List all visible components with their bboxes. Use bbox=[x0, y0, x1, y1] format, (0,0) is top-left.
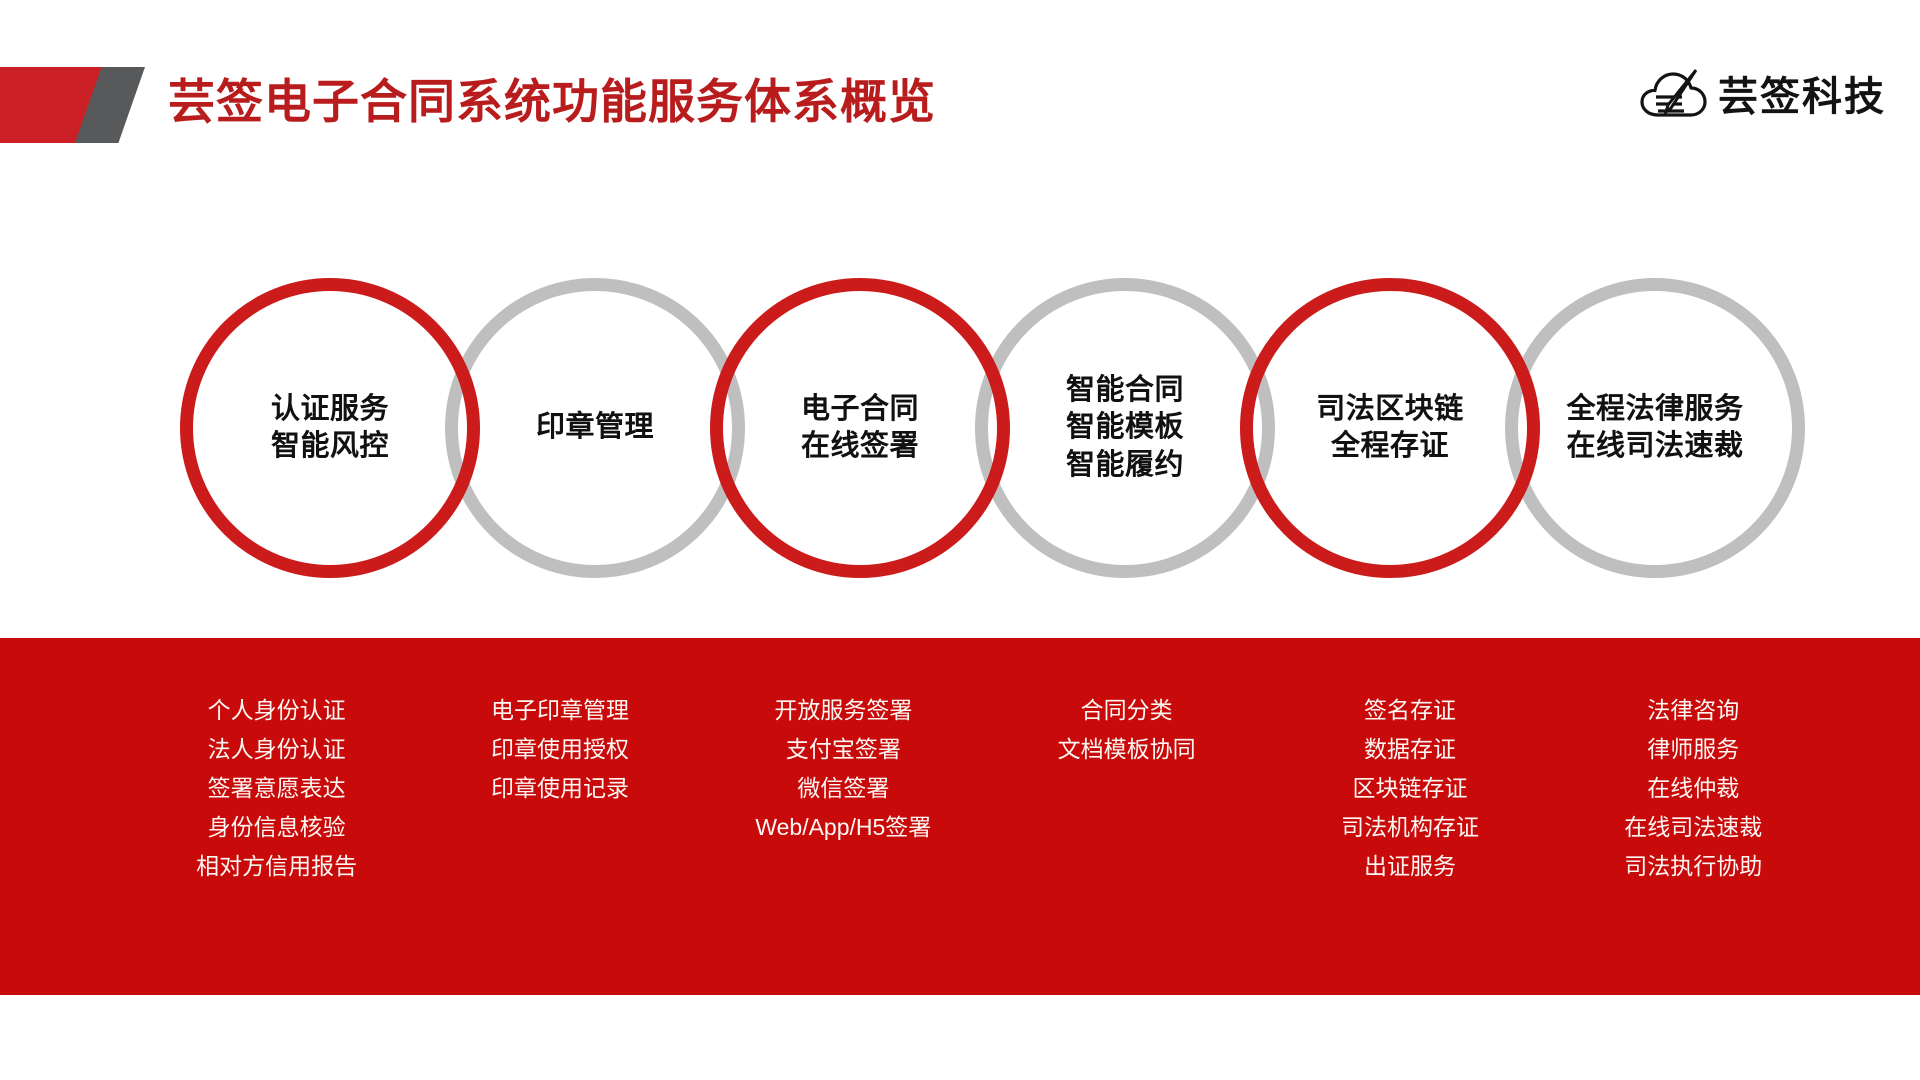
service-item[interactable]: 电子印章管理 bbox=[491, 691, 629, 730]
service-column-5: 签名存证数据存证区块链存证司法机构存证出证服务 bbox=[1268, 691, 1551, 886]
service-item[interactable]: 司法机构存证 bbox=[1341, 808, 1479, 847]
service-item[interactable]: 个人身份认证 bbox=[208, 691, 346, 730]
brand-name: 芸签科技 bbox=[1718, 64, 1886, 122]
service-item[interactable]: 区块链存证 bbox=[1352, 769, 1467, 808]
circle-caption-line: 智能履约 bbox=[1066, 447, 1184, 484]
service-item[interactable]: 相对方信用报告 bbox=[196, 847, 357, 886]
service-item[interactable]: 在线司法速裁 bbox=[1624, 808, 1762, 847]
circle-4-caption: 智能合同智能模板智能履约 bbox=[988, 291, 1262, 565]
service-column-4: 合同分类文档模板协同 bbox=[985, 691, 1268, 886]
service-item[interactable]: 司法执行协助 bbox=[1624, 847, 1762, 886]
page-title: 芸签电子合同系统功能服务体系概览 bbox=[168, 60, 936, 144]
service-item[interactable]: 法律咨询 bbox=[1647, 691, 1739, 730]
circle-2-caption: 印章管理 bbox=[458, 291, 732, 565]
service-column-2: 电子印章管理印章使用授权印章使用记录 bbox=[418, 691, 701, 886]
cloud-pen-icon bbox=[1638, 65, 1710, 121]
circle-6[interactable]: 全程法律服务在线司法速裁 bbox=[1505, 278, 1805, 578]
service-item[interactable]: 签署意愿表达 bbox=[208, 769, 346, 808]
circle-caption-line: 智能模板 bbox=[1066, 409, 1184, 446]
service-item[interactable]: 签名存证 bbox=[1364, 691, 1456, 730]
circle-caption-line: 电子合同 bbox=[801, 391, 919, 428]
circle-caption-line: 智能风控 bbox=[271, 428, 389, 465]
service-item[interactable]: 微信签署 bbox=[797, 769, 889, 808]
circle-caption-line: 认证服务 bbox=[271, 391, 389, 428]
circle-caption-line: 全程法律服务 bbox=[1566, 391, 1743, 428]
service-column-1: 个人身份认证法人身份认证签署意愿表达身份信息核验相对方信用报告 bbox=[135, 691, 418, 886]
service-detail-panel: 个人身份认证法人身份认证签署意愿表达身份信息核验相对方信用报告 电子印章管理印章… bbox=[0, 638, 1920, 995]
circle-caption-line: 智能合同 bbox=[1066, 372, 1184, 409]
circle-2[interactable]: 印章管理 bbox=[445, 278, 745, 578]
slide-canvas: 芸签电子合同系统功能服务体系概览 芸签科技 认证服务智能风控 印章管理 电子合同… bbox=[0, 0, 1920, 1080]
service-column-3: 开放服务签署支付宝签署微信签署Web/App/H5签署 bbox=[702, 691, 985, 886]
service-item[interactable]: 出证服务 bbox=[1364, 847, 1456, 886]
service-item[interactable]: Web/App/H5签署 bbox=[755, 808, 931, 847]
service-item[interactable]: 合同分类 bbox=[1081, 691, 1173, 730]
circle-caption-line: 在线司法速裁 bbox=[1566, 428, 1743, 465]
circle-3-caption: 电子合同在线签署 bbox=[723, 291, 997, 565]
slide-header: 芸签电子合同系统功能服务体系概览 芸签科技 bbox=[0, 0, 1920, 200]
service-item[interactable]: 法人身份认证 bbox=[208, 730, 346, 769]
service-item[interactable]: 数据存证 bbox=[1364, 730, 1456, 769]
service-item[interactable]: 支付宝签署 bbox=[786, 730, 901, 769]
circle-4[interactable]: 智能合同智能模板智能履约 bbox=[975, 278, 1275, 578]
circle-3[interactable]: 电子合同在线签署 bbox=[710, 278, 1010, 578]
circle-caption-line: 在线签署 bbox=[801, 428, 919, 465]
service-item[interactable]: 在线仲裁 bbox=[1647, 769, 1739, 808]
service-item[interactable]: 印章使用记录 bbox=[491, 769, 629, 808]
circle-caption-line: 印章管理 bbox=[536, 409, 654, 446]
service-item[interactable]: 文档模板协同 bbox=[1058, 730, 1196, 769]
circle-caption-line: 全程存证 bbox=[1331, 428, 1449, 465]
circle-1-caption: 认证服务智能风控 bbox=[193, 291, 467, 565]
service-columns: 个人身份认证法人身份认证签署意愿表达身份信息核验相对方信用报告 电子印章管理印章… bbox=[135, 691, 1835, 886]
process-circle-row: 认证服务智能风控 印章管理 电子合同在线签署 智能合同智能模板智能履约 司法区块… bbox=[0, 278, 1920, 580]
circle-1[interactable]: 认证服务智能风控 bbox=[180, 278, 480, 578]
service-item[interactable]: 印章使用授权 bbox=[491, 730, 629, 769]
service-item[interactable]: 律师服务 bbox=[1647, 730, 1739, 769]
circle-caption-line: 司法区块链 bbox=[1316, 391, 1464, 428]
circle-5-caption: 司法区块链全程存证 bbox=[1253, 291, 1527, 565]
brand-logo: 芸签科技 bbox=[1638, 64, 1886, 122]
service-item[interactable]: 开放服务签署 bbox=[774, 691, 912, 730]
service-item[interactable]: 身份信息核验 bbox=[208, 808, 346, 847]
service-column-6: 法律咨询律师服务在线仲裁在线司法速裁司法执行协助 bbox=[1552, 691, 1835, 886]
circle-5[interactable]: 司法区块链全程存证 bbox=[1240, 278, 1540, 578]
circle-6-caption: 全程法律服务在线司法速裁 bbox=[1518, 291, 1792, 565]
